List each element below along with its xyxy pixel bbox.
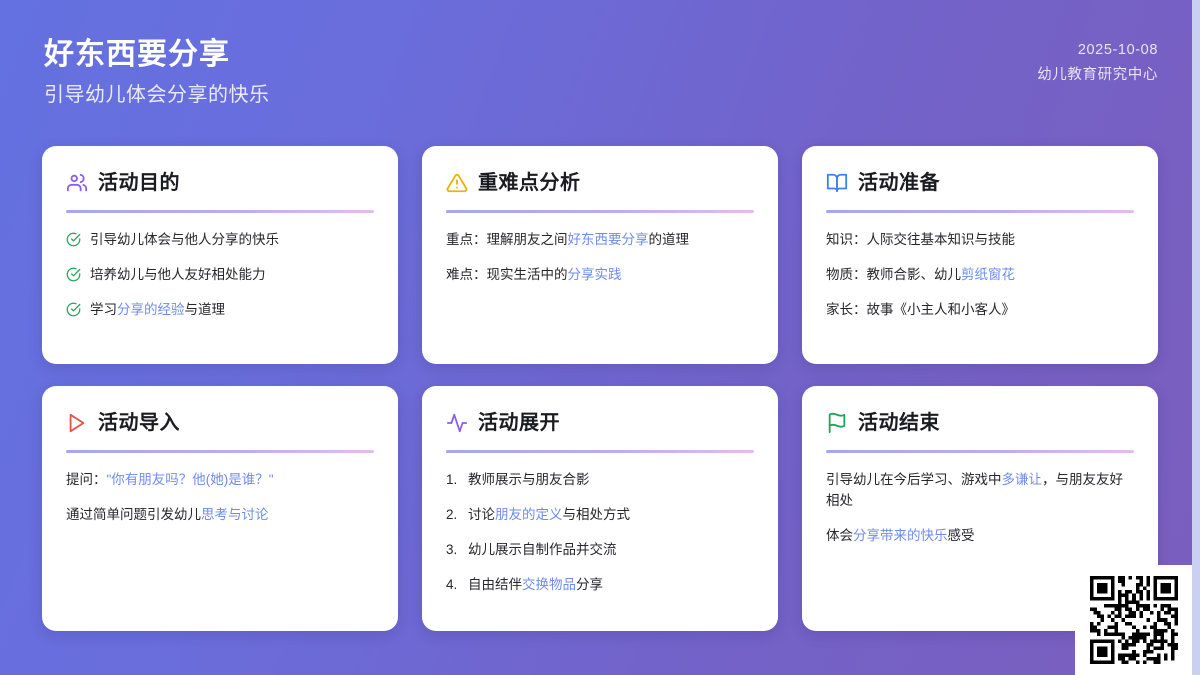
card-divider <box>66 210 374 213</box>
plain-text: 体会 <box>826 528 853 543</box>
list-item-label: 自由结伴交换物品分享 <box>468 577 603 592</box>
paragraph-list: 引导幼儿在今后学习、游戏中多谦让，与朋友友好相处体会分享带来的快乐感受 <box>826 470 1134 547</box>
card-title: 活动目的 <box>98 173 180 193</box>
plain-text: 通过简单问题引发幼儿 <box>66 507 201 522</box>
highlight-text: 交换物品 <box>522 577 576 592</box>
card-divider <box>826 210 1134 213</box>
card-header: 活动展开 <box>446 408 754 438</box>
highlight-text: 思考与讨论 <box>201 507 269 522</box>
list-item: 培养幼儿与他人友好相处能力 <box>66 265 374 286</box>
list-item: 教师展示与朋友合影 <box>446 470 754 491</box>
list-item-label: 讨论朋友的定义与相处方式 <box>468 507 630 522</box>
highlight-text: 朋友的定义 <box>495 507 563 522</box>
plain-text: 家长：故事《小主人和小客人》 <box>826 302 1015 317</box>
slide-root: 好东西要分享 引导幼儿体会分享的快乐 2025-10-08 幼儿教育研究中心 活… <box>0 0 1192 675</box>
plain-text: 感受 <box>948 528 975 543</box>
check-circle-icon <box>66 267 81 282</box>
plain-text: 知识：人际交往基本知识与技能 <box>826 232 1015 247</box>
card-body: 引导幼儿在今后学习、游戏中多谦让，与朋友友好相处体会分享带来的快乐感受 <box>826 470 1134 547</box>
plain-text: 难点：现实生活中的 <box>446 267 568 282</box>
card-divider <box>446 210 754 213</box>
plain-text: 自由结伴 <box>468 577 522 592</box>
plain-text: 重点：理解朋友之间 <box>446 232 568 247</box>
card-divider <box>66 450 374 453</box>
plain-text: 物质：教师合影、幼儿 <box>826 267 961 282</box>
header-meta: 2025-10-08 幼儿教育研究中心 <box>1037 40 1158 87</box>
card-body: 重点：理解朋友之间好东西要分享的道理难点：现实生活中的分享实践 <box>446 230 754 286</box>
list-item: 引导幼儿体会与他人分享的快乐 <box>66 230 374 251</box>
card-title: 活动展开 <box>478 413 560 433</box>
list-item-label: 教师展示与朋友合影 <box>468 472 590 487</box>
plain-text: 分享 <box>576 577 603 592</box>
card-body: 提问："你有朋友吗？他(她)是谁？"通过简单问题引发幼儿思考与讨论 <box>66 470 374 526</box>
check-circle-icon <box>66 302 81 317</box>
plain-text: 培养幼儿与他人友好相处能力 <box>90 267 266 282</box>
card-activity-preparation[interactable]: 活动准备知识：人际交往基本知识与技能物质：教师合影、幼儿剪纸窗花家长：故事《小主… <box>802 146 1158 364</box>
card-title: 重难点分析 <box>478 173 581 193</box>
highlight-text: 分享的经验 <box>117 302 185 317</box>
plain-text: 幼儿展示自制作品并交流 <box>468 542 617 557</box>
card-body: 引导幼儿体会与他人分享的快乐培养幼儿与他人友好相处能力学习分享的经验与道理 <box>66 230 374 321</box>
plain-text: 讨论 <box>468 507 495 522</box>
paragraph-list: 提问："你有朋友吗？他(她)是谁？"通过简单问题引发幼儿思考与讨论 <box>66 470 374 526</box>
play-triangle-icon <box>66 412 88 434</box>
users-icon <box>66 172 88 194</box>
card-header: 活动目的 <box>66 168 374 198</box>
plain-text: 提问： <box>66 472 107 487</box>
warning-triangle-icon <box>446 172 468 194</box>
highlight-text: "你有朋友吗？他(她)是谁？" <box>107 472 274 487</box>
activity-pulse-icon <box>446 412 468 434</box>
card-body: 知识：人际交往基本知识与技能物质：教师合影、幼儿剪纸窗花家长：故事《小主人和小客… <box>826 230 1134 321</box>
highlight-text: 剪纸窗花 <box>961 267 1015 282</box>
highlight-text: 分享实践 <box>568 267 622 282</box>
list-item: 幼儿展示自制作品并交流 <box>446 540 754 561</box>
list-item-label: 培养幼儿与他人友好相处能力 <box>90 265 266 286</box>
card-title: 活动结束 <box>858 413 940 433</box>
card-activity-introduction[interactable]: 活动导入提问："你有朋友吗？他(她)是谁？"通过简单问题引发幼儿思考与讨论 <box>42 386 398 631</box>
list-item: 难点：现实生活中的分享实践 <box>446 265 754 286</box>
slide-header: 好东西要分享 引导幼儿体会分享的快乐 2025-10-08 幼儿教育研究中心 <box>0 0 1192 130</box>
organization-label: 幼儿教育研究中心 <box>1037 65 1158 87</box>
plain-text: 与道理 <box>185 302 226 317</box>
list-item: 通过简单问题引发幼儿思考与讨论 <box>66 505 374 526</box>
check-list: 引导幼儿体会与他人分享的快乐培养幼儿与他人友好相处能力学习分享的经验与道理 <box>66 230 374 321</box>
card-divider <box>446 450 754 453</box>
card-title: 活动导入 <box>98 413 180 433</box>
list-item: 自由结伴交换物品分享 <box>446 575 754 596</box>
card-header: 活动准备 <box>826 168 1134 198</box>
qr-code <box>1090 576 1178 664</box>
list-item: 知识：人际交往基本知识与技能 <box>826 230 1134 251</box>
card-title: 活动准备 <box>858 173 940 193</box>
qr-panel <box>1075 565 1192 675</box>
highlight-text: 分享带来的快乐 <box>853 528 948 543</box>
card-header: 重难点分析 <box>446 168 754 198</box>
list-item: 学习分享的经验与道理 <box>66 300 374 321</box>
flag-icon <box>826 412 848 434</box>
card-header: 活动结束 <box>826 408 1134 438</box>
list-item-label: 引导幼儿体会与他人分享的快乐 <box>90 230 279 251</box>
card-header: 活动导入 <box>66 408 374 438</box>
check-circle-icon <box>66 232 81 247</box>
page-subtitle: 引导幼儿体会分享的快乐 <box>44 82 270 108</box>
card-grid: 活动目的引导幼儿体会与他人分享的快乐培养幼儿与他人友好相处能力学习分享的经验与道… <box>42 146 1150 631</box>
list-item: 提问："你有朋友吗？他(她)是谁？" <box>66 470 374 491</box>
plain-text: 的道理 <box>649 232 690 247</box>
list-item: 重点：理解朋友之间好东西要分享的道理 <box>446 230 754 251</box>
plain-text: 与相处方式 <box>563 507 631 522</box>
paragraph-list: 知识：人际交往基本知识与技能物质：教师合影、幼儿剪纸窗花家长：故事《小主人和小客… <box>826 230 1134 321</box>
paragraph-list: 重点：理解朋友之间好东西要分享的道理难点：现实生活中的分享实践 <box>446 230 754 286</box>
highlight-text: 好东西要分享 <box>568 232 649 247</box>
title-block: 好东西要分享 引导幼儿体会分享的快乐 <box>44 36 270 108</box>
list-item: 物质：教师合影、幼儿剪纸窗花 <box>826 265 1134 286</box>
list-item: 讨论朋友的定义与相处方式 <box>446 505 754 526</box>
list-item-label: 幼儿展示自制作品并交流 <box>468 542 617 557</box>
card-body: 教师展示与朋友合影讨论朋友的定义与相处方式幼儿展示自制作品并交流自由结伴交换物品… <box>446 470 754 596</box>
highlight-text: 多谦让 <box>1002 472 1043 487</box>
plain-text: 引导幼儿在今后学习、游戏中 <box>826 472 1002 487</box>
list-item-label: 学习分享的经验与道理 <box>90 300 225 321</box>
numbered-list: 教师展示与朋友合影讨论朋友的定义与相处方式幼儿展示自制作品并交流自由结伴交换物品… <box>446 470 754 596</box>
page-title: 好东西要分享 <box>44 36 270 74</box>
date-label: 2025-10-08 <box>1037 40 1158 62</box>
list-item: 引导幼儿在今后学习、游戏中多谦让，与朋友友好相处 <box>826 470 1134 512</box>
plain-text: 教师展示与朋友合影 <box>468 472 590 487</box>
card-key-difficulty-analysis[interactable]: 重难点分析重点：理解朋友之间好东西要分享的道理难点：现实生活中的分享实践 <box>422 146 778 364</box>
card-activity-development[interactable]: 活动展开教师展示与朋友合影讨论朋友的定义与相处方式幼儿展示自制作品并交流自由结伴… <box>422 386 778 631</box>
list-item: 体会分享带来的快乐感受 <box>826 526 1134 547</box>
card-divider <box>826 450 1134 453</box>
list-item: 家长：故事《小主人和小客人》 <box>826 300 1134 321</box>
book-icon <box>826 172 848 194</box>
plain-text: 引导幼儿体会与他人分享的快乐 <box>90 232 279 247</box>
plain-text: 学习 <box>90 302 117 317</box>
card-activity-purpose[interactable]: 活动目的引导幼儿体会与他人分享的快乐培养幼儿与他人友好相处能力学习分享的经验与道… <box>42 146 398 364</box>
